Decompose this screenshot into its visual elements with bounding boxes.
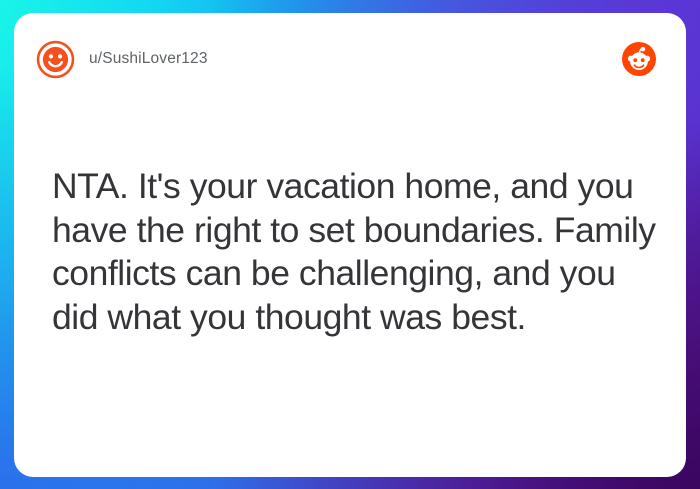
card-header: u/SushiLover123 xyxy=(36,37,664,81)
screenshot-canvas: u/SushiLover123 NTA. It's your vacation … xyxy=(0,0,700,489)
smiley-face-avatar-icon xyxy=(36,40,75,79)
reddit-comment-card: u/SushiLover123 NTA. It's your vacation … xyxy=(14,13,686,477)
avatar xyxy=(36,40,75,79)
reddit-snoo-logo-icon[interactable] xyxy=(622,42,656,76)
post-body-text: NTA. It's your vacation home, and you ha… xyxy=(52,165,660,339)
username-label: u/SushiLover123 xyxy=(89,50,208,68)
